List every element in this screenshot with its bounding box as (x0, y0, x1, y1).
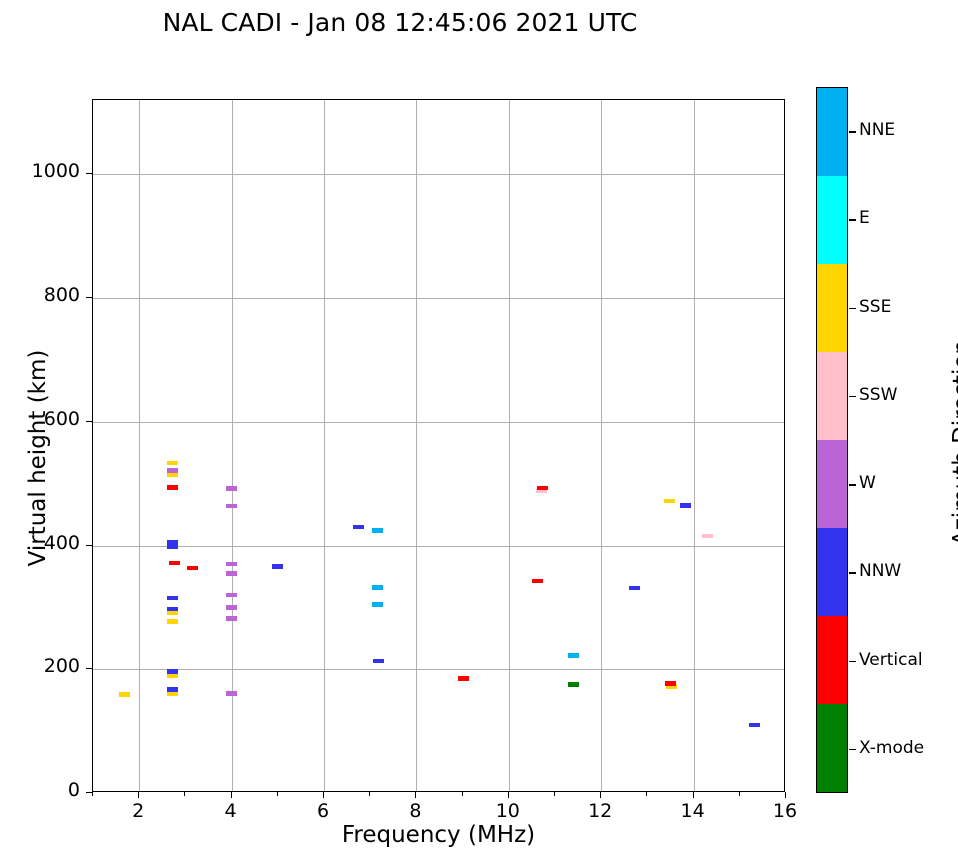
plot-area (92, 99, 785, 792)
data-point (568, 682, 579, 687)
data-point (169, 561, 180, 566)
data-point (167, 544, 178, 549)
colorbar-label-e: E (859, 208, 870, 228)
data-layer (93, 100, 784, 791)
data-point (372, 528, 383, 533)
x-tick-minor (646, 792, 647, 796)
x-tick-label: 16 (755, 800, 815, 822)
x-tick-minor (277, 792, 278, 796)
y-tick-label: 1000 (0, 160, 80, 182)
x-tick (138, 792, 139, 798)
data-point (167, 607, 178, 612)
data-point (373, 659, 384, 664)
colorbar-tick (849, 396, 856, 398)
colorbar-segment-w (817, 440, 847, 528)
x-tick (600, 792, 601, 798)
colorbar (816, 87, 848, 793)
y-tick-label: 200 (0, 655, 80, 677)
data-point (749, 723, 760, 728)
y-axis-label: Virtual height (km) (25, 298, 51, 618)
data-point (167, 687, 178, 692)
data-point (226, 691, 237, 696)
data-point (167, 485, 178, 490)
colorbar-label: Azimuth Direction (949, 273, 958, 613)
colorbar-segment-nnw (817, 528, 847, 616)
x-tick (323, 792, 324, 798)
colorbar-segment-ssw (817, 352, 847, 440)
colorbar-label-vertical: Vertical (859, 650, 923, 670)
data-point (226, 616, 237, 621)
colorbar-segment-e (817, 176, 847, 264)
colorbar-label-x-mode: X-mode (859, 738, 924, 758)
colorbar-segment-nne (817, 88, 847, 176)
x-tick (785, 792, 786, 798)
x-tick-label: 12 (570, 800, 630, 822)
x-tick (231, 792, 232, 798)
y-tick (86, 792, 92, 793)
data-point (167, 540, 178, 545)
colorbar-tick (849, 308, 856, 310)
x-tick-label: 14 (663, 800, 723, 822)
x-tick (508, 792, 509, 798)
x-tick-minor (739, 792, 740, 796)
data-point (167, 596, 178, 601)
data-point (664, 499, 675, 504)
x-tick-minor (184, 792, 185, 796)
data-point (372, 602, 383, 607)
x-tick-label: 4 (201, 800, 261, 822)
data-point (458, 676, 469, 681)
data-point (702, 534, 713, 539)
data-point (167, 461, 178, 466)
y-tick (86, 421, 92, 422)
data-point (167, 619, 178, 624)
x-tick-label: 8 (385, 800, 445, 822)
data-point (537, 486, 548, 491)
data-point (665, 681, 676, 686)
data-point (226, 486, 237, 491)
colorbar-label-nne: NNE (859, 120, 895, 140)
data-point (353, 525, 364, 530)
colorbar-tick (849, 219, 856, 221)
data-point (629, 586, 640, 591)
page-title: NAL CADI - Jan 08 12:45:06 2021 UTC (0, 8, 800, 37)
colorbar-label-w: W (859, 473, 876, 493)
data-point (226, 605, 237, 610)
colorbar-label-nnw: NNW (859, 561, 901, 581)
x-tick-label: 6 (293, 800, 353, 822)
y-tick-label: 0 (0, 779, 80, 801)
x-tick-minor (92, 792, 93, 796)
x-tick-minor (369, 792, 370, 796)
data-point (167, 669, 178, 674)
colorbar-tick (849, 661, 856, 663)
data-point (226, 593, 237, 598)
colorbar-label-ssw: SSW (859, 385, 897, 405)
data-point (226, 504, 237, 509)
y-tick (86, 545, 92, 546)
data-point (272, 564, 283, 569)
x-axis-label: Frequency (MHz) (92, 822, 785, 848)
data-point (119, 692, 130, 697)
x-tick-minor (462, 792, 463, 796)
colorbar-segment-sse (817, 264, 847, 352)
data-point (372, 585, 383, 590)
colorbar-segment-x-mode (817, 704, 847, 792)
x-tick-label: 2 (108, 800, 168, 822)
x-tick-minor (554, 792, 555, 796)
x-tick (693, 792, 694, 798)
colorbar-tick (849, 131, 856, 133)
data-point (532, 579, 543, 584)
colorbar-segment-vertical (817, 616, 847, 704)
data-point (167, 692, 178, 697)
colorbar-tick (849, 749, 856, 751)
x-tick-label: 10 (478, 800, 538, 822)
y-tick (86, 173, 92, 174)
colorbar-label-sse: SSE (859, 297, 891, 317)
data-point (680, 503, 691, 508)
colorbar-tick (849, 572, 856, 574)
data-point (187, 566, 198, 571)
colorbar-tick (849, 484, 856, 486)
data-point (568, 653, 579, 658)
y-tick (86, 668, 92, 669)
data-point (167, 468, 178, 473)
y-tick (86, 297, 92, 298)
x-tick (415, 792, 416, 798)
data-point (226, 562, 237, 567)
data-point (226, 571, 237, 576)
